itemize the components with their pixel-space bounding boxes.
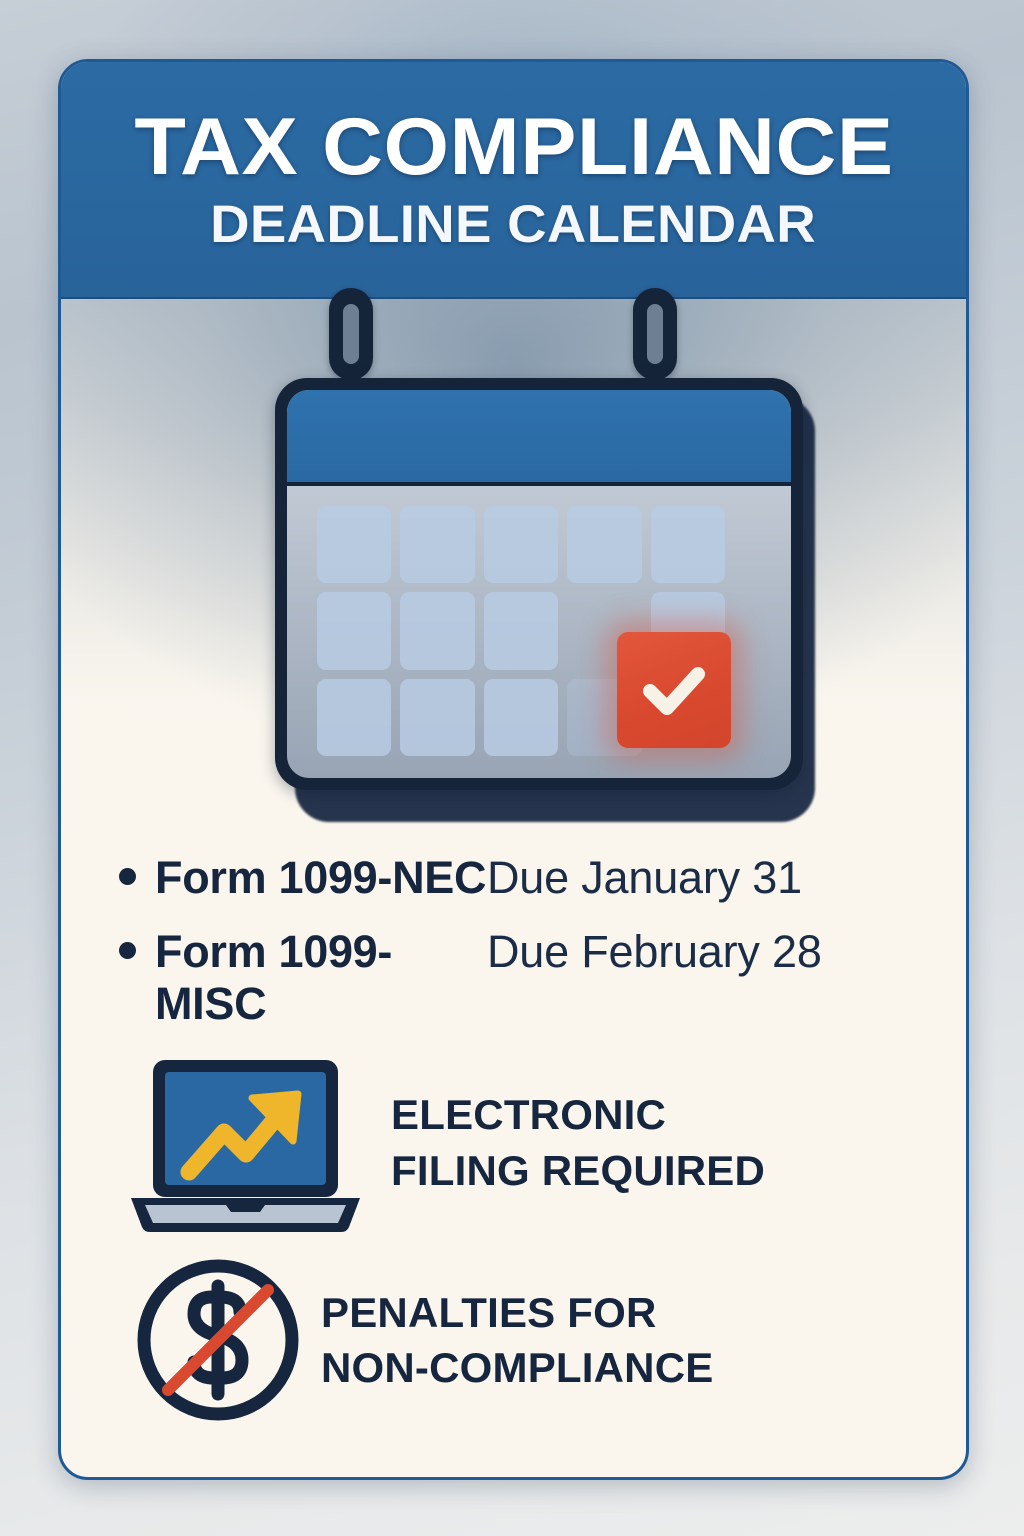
list-item: Form 1099-NEC Due January 31 <box>61 852 966 904</box>
calendar-day-cell <box>567 506 641 583</box>
feature-electronic-filing: ELECTRONIC FILING REQUIRED <box>61 1050 966 1235</box>
page-subtitle: DEADLINE CALENDAR <box>211 198 817 251</box>
deadline-form-label: Form 1099-NEC <box>155 852 487 904</box>
calendar-month-bar <box>287 390 791 486</box>
calendar-ring-left-icon <box>329 288 373 380</box>
calendar-deadline-day-highlight <box>617 632 731 748</box>
bullet-icon <box>119 942 136 959</box>
laptop-growth-chart-icon <box>123 1050 373 1235</box>
calendar-day-cell <box>317 506 391 583</box>
illustration-area <box>61 299 966 849</box>
calendar-day-cell <box>400 506 474 583</box>
feature-text-line: NON-COMPLIANCE <box>321 1340 713 1395</box>
calendar-day-cell <box>484 679 558 756</box>
calendar-day-cell <box>317 592 391 669</box>
feature-text-line: ELECTRONIC <box>391 1087 765 1142</box>
no-money-penalty-icon <box>123 1250 313 1430</box>
check-icon <box>637 653 711 727</box>
calendar-body <box>275 378 803 790</box>
calendar-icon <box>229 322 819 822</box>
deadline-due-label: Due February 28 <box>487 926 822 978</box>
deadline-due-label: Due January 31 <box>487 852 802 904</box>
page-title: TAX COMPLIANCE <box>134 108 893 187</box>
feature-text-line: FILING REQUIRED <box>391 1143 765 1198</box>
calendar-day-cell <box>317 679 391 756</box>
calendar-day-cell <box>400 679 474 756</box>
calendar-ring-right-icon <box>633 288 677 380</box>
calendar-day-cell <box>484 506 558 583</box>
calendar-day-cell <box>400 592 474 669</box>
feature-penalties: PENALTIES FOR NON-COMPLIANCE <box>61 1250 966 1430</box>
header-banner: TAX COMPLIANCE DEADLINE CALENDAR <box>61 62 966 299</box>
feature-penalties-text: PENALTIES FOR NON-COMPLIANCE <box>321 1285 713 1396</box>
calendar-page <box>287 390 791 778</box>
bullet-icon <box>119 868 136 885</box>
calendar-day-cell <box>484 592 558 669</box>
deadline-list: Form 1099-NEC Due January 31 Form 1099-M… <box>61 852 966 1052</box>
list-item: Form 1099-MISC Due February 28 <box>61 926 966 1030</box>
deadline-form-label: Form 1099-MISC <box>155 926 487 1030</box>
infographic-card: TAX COMPLIANCE DEADLINE CALENDAR <box>58 59 969 1480</box>
feature-text-line: PENALTIES FOR <box>321 1285 713 1340</box>
calendar-day-cell <box>651 506 725 583</box>
feature-electronic-filing-text: ELECTRONIC FILING REQUIRED <box>391 1087 765 1198</box>
